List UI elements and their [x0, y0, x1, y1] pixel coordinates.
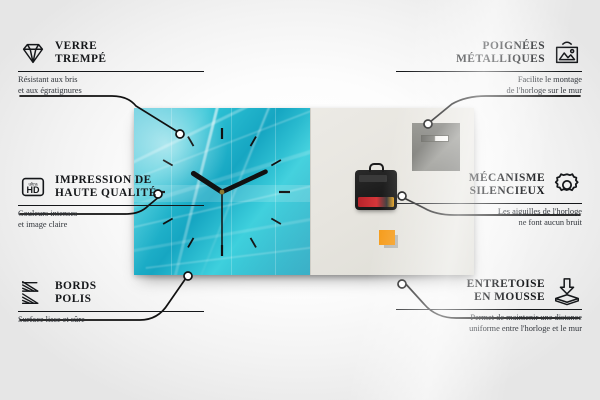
feature-header: BORDS POLIS: [18, 278, 204, 308]
feature-subtitle: Facilite le montage de l'horloge sur le …: [396, 75, 582, 95]
feature-subtitle: Résistant aux bris et aux égratignures: [18, 75, 204, 95]
feature-divider: [396, 309, 582, 310]
gear-icon: [552, 170, 582, 200]
connector-poignees: [430, 96, 580, 122]
feature-header: MÉCANISME SILENCIEUX: [396, 170, 582, 200]
feature-divider: [396, 203, 582, 204]
connector-verre-trempe: [20, 96, 178, 132]
ultra-hd-icon: ultra HD: [18, 172, 48, 202]
picture-hanger-icon: [552, 38, 582, 68]
feature-header: ENTRETOISE EN MOUSSE: [396, 276, 582, 306]
feature-title: ENTRETOISE EN MOUSSE: [467, 278, 545, 303]
connector-dot-verre-trempe: [176, 130, 184, 138]
feature-header: VERRE TREMPÉ: [18, 38, 204, 68]
polished-edges-icon: [18, 278, 48, 308]
feature-subtitle: Les aiguilles de l'horloge ne font aucun…: [396, 207, 582, 227]
feature-verre-trempe: VERRE TREMPÉ Résistant aux bris et aux é…: [18, 38, 204, 96]
feature-title: POIGNÉES MÉTALLIQUES: [456, 40, 545, 65]
feature-bords-polis: BORDS POLIS Surface lisse et sûre: [18, 278, 204, 326]
feature-entretoise-mousse: ENTRETOISE EN MOUSSE Permet de maintenir…: [396, 276, 582, 334]
feature-header: ultra HD IMPRESSION DE HAUTE QUALITÉ: [18, 172, 204, 202]
connector-dot-poignees: [424, 120, 432, 128]
feature-title: IMPRESSION DE HAUTE QUALITÉ: [55, 174, 157, 199]
foam-spacer-icon: [552, 276, 582, 306]
ultra-hd-main-label: HD: [27, 185, 40, 195]
feature-mecanisme-silencieux: MÉCANISME SILENCIEUX Les aiguilles de l'…: [396, 170, 582, 228]
feature-poignees-metalliques: POIGNÉES MÉTALLIQUES Facilite le montage…: [396, 38, 582, 96]
feature-header: POIGNÉES MÉTALLIQUES: [396, 38, 582, 68]
feature-title: VERRE TREMPÉ: [55, 40, 106, 65]
feature-impression-hd: ultra HD IMPRESSION DE HAUTE QUALITÉ Cou…: [18, 172, 204, 230]
feature-title: BORDS POLIS: [55, 280, 97, 305]
feature-subtitle: Permet de maintenir une distance uniform…: [396, 313, 582, 333]
feature-title: MÉCANISME SILENCIEUX: [469, 172, 545, 197]
diamond-icon: [18, 38, 48, 68]
feature-subtitle: Couleurs intenses et image claire: [18, 209, 204, 229]
infographic-canvas: VERRE TREMPÉ Résistant aux bris et aux é…: [0, 0, 600, 400]
feature-divider: [18, 311, 204, 312]
feature-divider: [396, 71, 582, 72]
feature-subtitle: Surface lisse et sûre: [18, 315, 204, 325]
feature-divider: [18, 71, 204, 72]
feature-divider: [18, 205, 204, 206]
